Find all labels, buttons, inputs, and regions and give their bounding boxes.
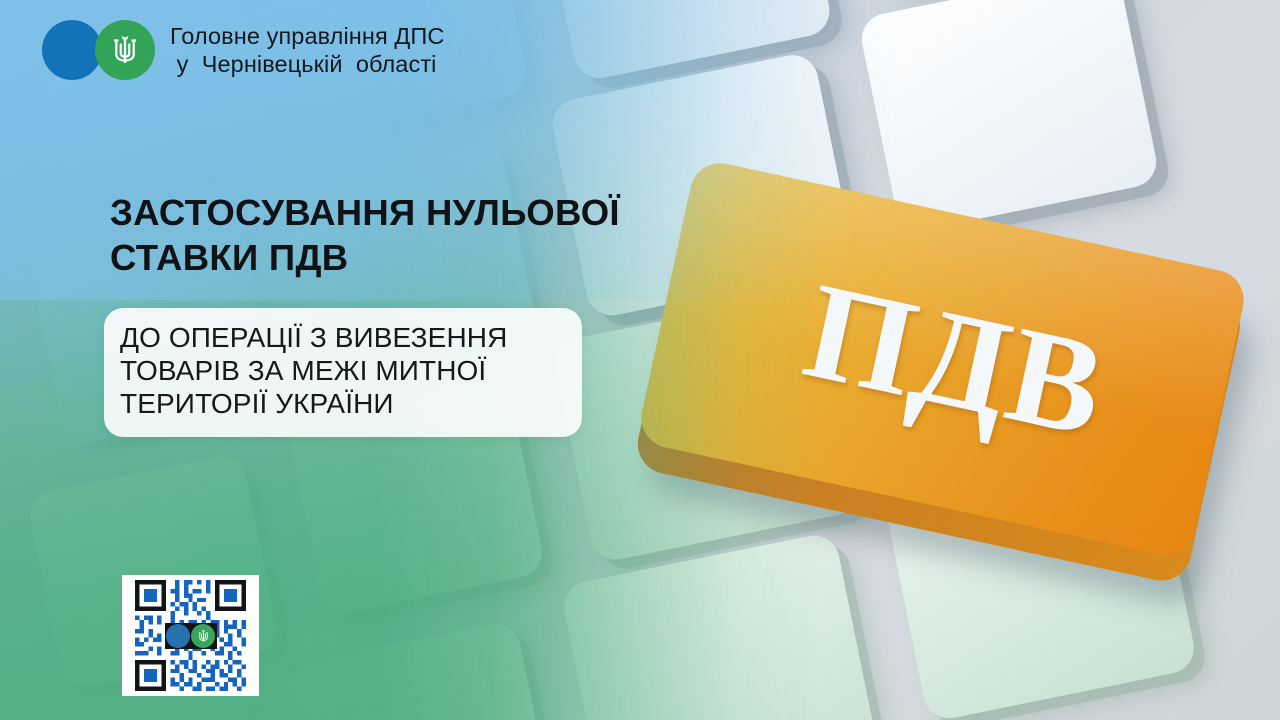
qr-code[interactable] <box>122 575 259 696</box>
qr-logo-circle-green <box>191 624 215 648</box>
logo-circle-green <box>95 20 155 80</box>
organization-name: Головне управління ДПС у Чернівецькій об… <box>170 22 445 78</box>
poster-canvas: ПДВ <box>0 0 1280 720</box>
logo-circle-blue <box>42 20 102 80</box>
qr-center-logo <box>165 623 217 649</box>
organization-logo: Головне управління ДПС у Чернівецькій об… <box>42 20 445 80</box>
keyboard-key <box>857 0 1161 235</box>
subtitle-card: ДО ОПЕРАЦІЇ З ВИВЕЗЕННЯ ТОВАРІВ ЗА МЕЖІ … <box>104 308 582 437</box>
ukraine-trident-icon <box>112 34 138 66</box>
ukraine-trident-icon <box>198 629 209 643</box>
subtitle-text: ДО ОПЕРАЦІЇ З ВИВЕЗЕННЯ ТОВАРІВ ЗА МЕЖІ … <box>120 322 562 421</box>
page-title: ЗАСТОСУВАННЯ НУЛЬОВОЇ СТАВКИ ПДВ <box>110 190 730 281</box>
logo-circles <box>42 20 160 80</box>
qr-logo-circle-blue <box>166 624 190 648</box>
